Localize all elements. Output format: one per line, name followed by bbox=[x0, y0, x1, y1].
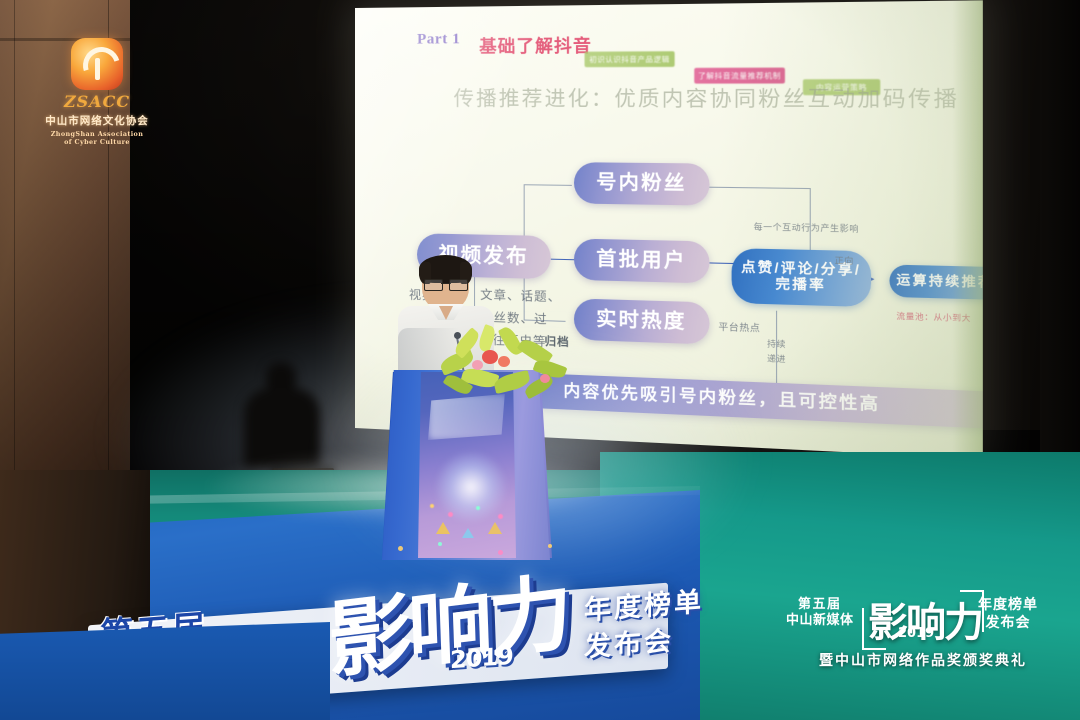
logo-acronym: ZSACC bbox=[38, 92, 156, 111]
node-engagement-line2: 完播率 bbox=[775, 277, 826, 294]
logo-name-cn: 中山市网络文化协会 bbox=[38, 113, 156, 128]
node-first-users: 首批用户 bbox=[574, 239, 710, 284]
watermark-year: 2019 bbox=[898, 626, 934, 641]
watermark-right-block: 年度榜单 发布会 bbox=[978, 596, 1038, 631]
wall-seam-vertical bbox=[14, 0, 15, 470]
swirl-emblem-icon bbox=[71, 38, 123, 90]
stage-sign-year: 2019 bbox=[450, 642, 513, 674]
association-logo: ZSACC 中山市网络文化协会 ZhongShan Association of… bbox=[38, 38, 156, 146]
stage-step bbox=[0, 622, 330, 720]
conference-photo: Part 1 基础了解抖音 初识认识抖音产品逻辑 了解抖音流量推荐机制 内容运营… bbox=[0, 0, 1080, 720]
flower-arrangement bbox=[438, 330, 568, 408]
watermark-left-line1: 第五届 bbox=[786, 596, 854, 612]
watermark-right-line1: 年度榜单 bbox=[978, 596, 1038, 614]
slide-tab-1: 初识认识抖音产品逻辑 bbox=[585, 51, 675, 67]
slide-part-title: 基础了解抖音 bbox=[479, 31, 592, 57]
connector-h-top bbox=[524, 184, 572, 186]
node-internal-fans: 号内粉丝 bbox=[574, 162, 710, 205]
stage-sign-right2: 发布会 bbox=[584, 619, 674, 665]
speaker-glasses bbox=[424, 279, 468, 289]
annotation-positive: 正向 bbox=[835, 255, 854, 267]
event-watermark: 第五届 中山新媒体 影响力 2019 年度榜单 发布会 暨中山市网络作品奖颁奖典… bbox=[780, 592, 1066, 684]
screen-right-edge bbox=[952, 0, 983, 459]
logo-name-en-line1: ZhongShan Association bbox=[38, 130, 156, 138]
annotation-continuous-2: 递进 bbox=[767, 353, 786, 365]
node-realtime-heat: 实时热度 bbox=[574, 298, 710, 344]
podium-light-glow bbox=[434, 450, 508, 524]
watermark-subtitle: 暨中山市网络作品奖颁奖典礼 bbox=[780, 650, 1066, 670]
slide-part-label: Part 1 bbox=[417, 31, 460, 49]
annotation-continuous-1: 持续 bbox=[767, 338, 786, 350]
annotation-every-interaction: 每一个互动行为产生影响 bbox=[754, 221, 859, 235]
watermark-left-line2: 中山新媒体 bbox=[786, 612, 854, 628]
watermark-left-block: 第五届 中山新媒体 bbox=[786, 596, 854, 629]
annotation-platform-hot: 平台热点 bbox=[718, 320, 760, 335]
watermark-right-line2: 发布会 bbox=[978, 614, 1038, 632]
logo-name-en-line2: of Cyber Culture bbox=[38, 138, 156, 146]
slide-heading: 传播推荐进化：优质内容协同粉丝互动加码传播 bbox=[454, 81, 960, 113]
